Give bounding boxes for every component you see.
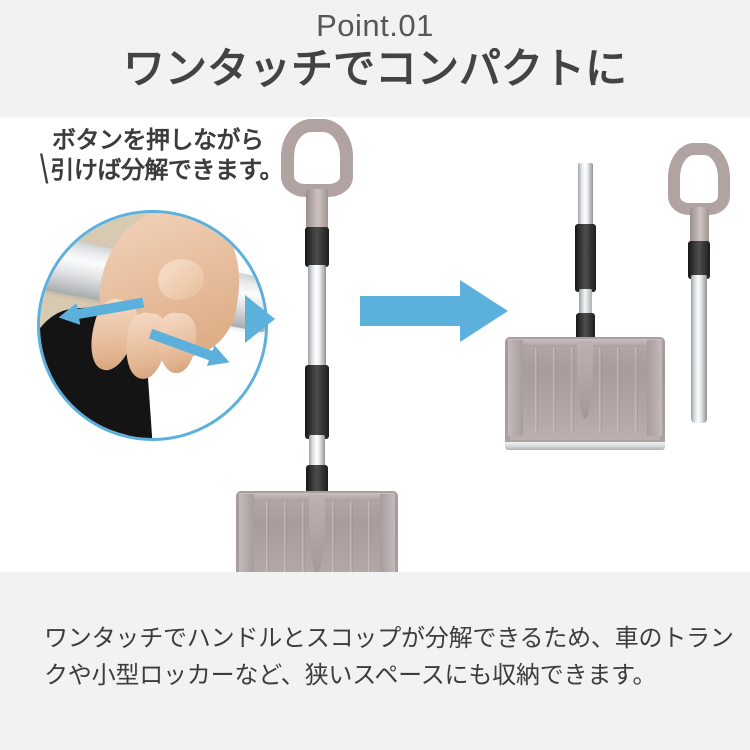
caption-text-block: ワンタッチでハンドルとスコップが分解できるため、車のトラン クや小型ロッカーなど… (0, 572, 750, 694)
blade-rib (553, 347, 556, 433)
detached-grip-neck (690, 207, 709, 245)
detached-shaft-tube (578, 163, 593, 228)
shaft-black-grip (305, 365, 329, 439)
blade-side-wall (647, 340, 662, 436)
caption-line-1: ワンタッチでハンドルとスコップが分解できるため、車のトラン (44, 620, 706, 657)
detached-grip-black-collar (688, 241, 710, 279)
blade-side-wall (239, 494, 254, 572)
detached-d-grip-handle (668, 143, 730, 215)
grip-neck (306, 189, 328, 231)
assembled-shovel-graphic (232, 119, 402, 569)
disassembled-shovel-graphic (505, 119, 735, 569)
blade-rib (350, 501, 353, 572)
point-eyebrow: Point.01 (0, 0, 750, 43)
header-banner: Point.01 ワンタッチでコンパクトに (0, 0, 750, 117)
d-grip-handle (281, 119, 353, 197)
slash-left-decoration: \ (40, 151, 48, 192)
blade-side-wall (380, 494, 395, 572)
blade-rib (599, 347, 602, 433)
caption-line-2: クや小型ロッカーなど、狭いスペースにも収納できます。 (44, 657, 706, 694)
blade-rib (635, 347, 638, 433)
blade-side-wall (508, 340, 523, 436)
blade-rib (284, 501, 287, 572)
blade-rib (302, 501, 305, 572)
blade-metal-edge (505, 442, 665, 450)
shovel-blade (236, 491, 398, 572)
blade-rib (332, 501, 335, 572)
caption-section: ワンタッチでハンドルとスコップが分解できるため、車のトラン クや小型ロッカーなど… (0, 572, 750, 750)
blade-rib (617, 347, 620, 433)
shaft-black-collar (305, 227, 329, 267)
blade-rib (571, 347, 574, 433)
detached-shaft-black-grip (575, 224, 596, 292)
transition-arrow-icon (360, 280, 508, 342)
blade-rib (535, 347, 538, 433)
product-illustration-stage: ボタンを押しながら \ 引けば分解できます。 / (0, 117, 750, 572)
page-title: ワンタッチでコンパクトに (0, 43, 750, 93)
detached-grip-silver-tube (691, 275, 707, 423)
blade-rib (368, 501, 371, 572)
blade-rib (266, 501, 269, 572)
detached-shovel-blade (505, 337, 665, 445)
